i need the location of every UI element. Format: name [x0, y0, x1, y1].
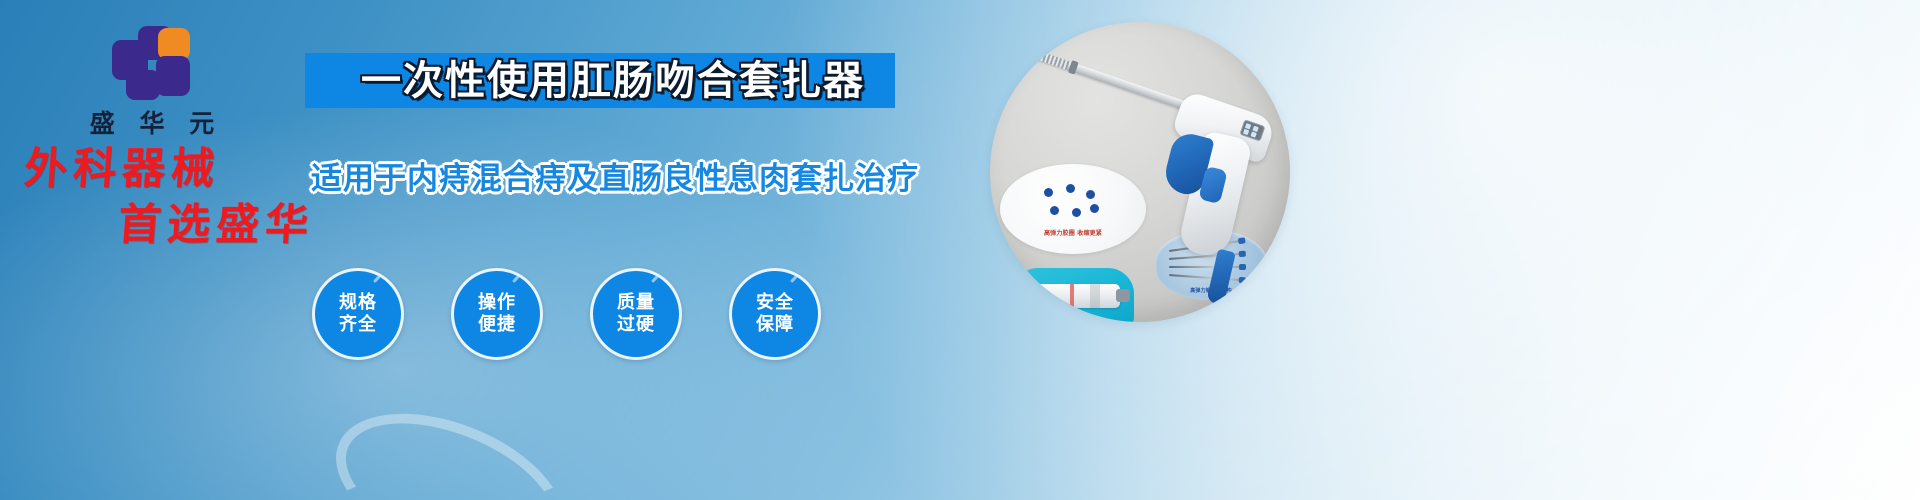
- feature-badge-1[interactable]: 操作 便捷: [451, 268, 543, 360]
- subtitle-text: 适用于内痔混合痔及直肠良性息肉套扎治疗: [295, 158, 935, 200]
- brand-logo[interactable]: 盛 华 元: [62, 26, 242, 140]
- headline-title: 一次性使用肛肠吻合套扎器: [333, 55, 893, 107]
- feature-badge-2[interactable]: 质量 过硬: [590, 268, 682, 360]
- decorative-swoosh: [314, 384, 585, 500]
- feature-badge-3-line2: 保障: [756, 314, 794, 336]
- shenghuayuan-logo-icon: [112, 26, 192, 98]
- anorectal-stapler-ligator-photo: 高弹力胶圈 收缩更紧 高弹力钢丝针结构: [990, 22, 1290, 322]
- feature-badge-3[interactable]: 安全 保障: [729, 268, 821, 360]
- feature-badge-1-line1: 操作: [478, 292, 516, 314]
- feature-badge-0-line1: 规格: [339, 292, 377, 314]
- feature-badge-0-line2: 齐全: [339, 314, 377, 336]
- slogan-line-2: 首选盛华: [116, 204, 359, 248]
- feature-badge-1-line2: 便捷: [478, 314, 516, 336]
- feature-badge-2-line2: 过硬: [617, 314, 655, 336]
- promo-banner: 盛 华 元 外科器械 首选盛华 一次性使用肛肠吻合套扎器 适用于内痔混合痔及直肠…: [0, 0, 1920, 500]
- loaded-cartridge-inset: [1012, 268, 1134, 322]
- feature-badge-3-line1: 安全: [756, 292, 794, 314]
- feature-badge-2-line1: 质量: [617, 292, 655, 314]
- instrument-shaft: [1035, 50, 1193, 112]
- rubber-bands-inset: 高弹力胶圈 收缩更紧: [1000, 164, 1146, 254]
- feature-badge-0[interactable]: 规格 齐全: [312, 268, 404, 360]
- feature-badges: 规格 齐全 操作 便捷 质量 过硬 安全 保障: [312, 268, 872, 368]
- rubber-bands-caption: 高弹力胶圈 收缩更紧: [1000, 228, 1146, 237]
- brand-name: 盛 华 元: [62, 104, 242, 140]
